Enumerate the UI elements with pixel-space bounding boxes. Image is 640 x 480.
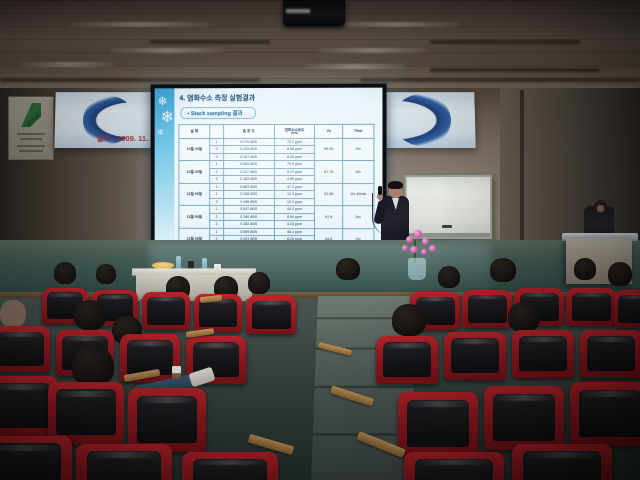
slide-side-decor: ❄ ❄ ❄ <box>155 88 175 241</box>
cell-concentration: 47.3 ppm <box>274 183 315 191</box>
col-concentration: 염화수소농도 (PPM) <box>274 124 315 138</box>
auditorium-seat[interactable] <box>182 452 278 480</box>
auditorium-seat[interactable] <box>0 326 50 372</box>
orchid-bloom <box>429 245 436 252</box>
cell-concentration: 10.2 ppm <box>274 198 315 206</box>
cell-concentration: 48.1 ppm <box>274 228 315 236</box>
auditorium-seat[interactable] <box>570 382 640 446</box>
auditorium-seat[interactable] <box>512 444 612 480</box>
slide-bullet-text: • Stack sampling 결과 <box>187 109 242 117</box>
cell-concentration: 8.28 ppm <box>274 153 315 161</box>
cell-concentration: 44.2 ppm <box>274 206 315 214</box>
audience-head <box>608 262 632 286</box>
cell-measurement-no: 2 <box>210 168 224 175</box>
orchid-bloom <box>422 238 429 245</box>
table-row: 10월 30일10.954 ABS70.9 ppm67.762hr <box>179 161 374 169</box>
col-no <box>210 125 224 139</box>
auditorium-seat[interactable] <box>0 436 72 480</box>
cell-measurement-no: 2 <box>210 191 224 198</box>
ceiling-seam <box>430 68 600 72</box>
cell-absorbance: 0.547 ABS <box>223 206 274 214</box>
auditorium-photo: 대구대 발표회 대구 발표회 대구대학교 환경공학과 일시 : 2009. 11… <box>0 0 640 480</box>
auditorium-seat[interactable] <box>444 332 506 380</box>
cell-absorbance: 0.183 ABS <box>223 176 274 184</box>
audience-head <box>72 346 114 386</box>
auditorium-seat[interactable] <box>404 452 504 480</box>
cell-vs: 53.98 <box>315 183 342 206</box>
ceiling-seam <box>360 78 640 82</box>
auditorium-seat[interactable] <box>398 392 478 456</box>
podium-person-face <box>597 205 604 212</box>
presentation-slide: ❄ ❄ ❄ 4. 염화수소 측정 실험결과 • Stack sampling 결… <box>155 88 383 243</box>
auditorium-seat[interactable] <box>614 290 640 328</box>
cell-concentration: 10.3 ppm <box>274 191 315 199</box>
auditorium-seat[interactable] <box>246 296 296 334</box>
cell-vs: 69.28 <box>315 138 342 161</box>
snowflake-icon: ❄ <box>157 128 164 137</box>
cell-concentration: 4.69 ppm <box>274 176 315 184</box>
orchid-bloom <box>414 230 422 238</box>
audience-head <box>96 264 116 284</box>
col-vs: Vs <box>315 124 342 138</box>
cell-measurement-no: 3 <box>210 198 224 205</box>
cell-measurement-no: 1 <box>210 161 224 168</box>
cell-measurement-no: 1 <box>210 139 224 146</box>
ceiling-light-fixture <box>70 22 210 27</box>
orchid-bloom <box>421 249 427 255</box>
audience-head <box>490 258 516 282</box>
audience-face <box>0 300 26 328</box>
auditorium-seat[interactable] <box>48 382 124 444</box>
ceiling-projector <box>283 0 345 26</box>
slide-bullet-box: • Stack sampling 결과 <box>180 107 256 119</box>
cell-absorbance: 0.198 ABS <box>223 191 274 199</box>
cell-absorbance: 0.186 ABS <box>223 213 274 221</box>
cell-date: 10월 30일 <box>179 161 210 183</box>
cell-vs: 67.6 <box>315 206 342 229</box>
auditorium-seat[interactable] <box>484 386 564 450</box>
col-concentration-unit: (PPM) <box>275 132 315 135</box>
auditorium-seat[interactable] <box>376 336 438 384</box>
water-bottle <box>176 256 181 269</box>
cell-concentration: 8.98 ppm <box>274 146 315 154</box>
audience-head <box>392 304 426 336</box>
cell-time: 1hr 40min <box>342 183 373 206</box>
cell-measurement-no: 2 <box>210 213 224 220</box>
ceiling <box>0 0 640 92</box>
audience-head <box>54 262 76 284</box>
cell-absorbance: 0.182 ABS <box>223 221 274 229</box>
col-date: 날 짜 <box>179 125 210 139</box>
orchid-bloom <box>410 246 418 253</box>
table-row: 11월 06일10.863 ABS47.3 ppm53.981hr 40min <box>179 183 374 191</box>
snowflake-icon: ❄ <box>161 110 174 126</box>
cell-absorbance: 0.863 ABS <box>223 183 274 191</box>
snowflake-icon: ❄ <box>158 95 168 107</box>
auditorium-seat[interactable] <box>512 330 574 378</box>
slide-title: 4. 염화수소 측정 실험결과 <box>179 93 255 103</box>
ceiling-light-fixture <box>20 62 115 67</box>
audience-head <box>574 258 596 280</box>
coffee-cup <box>172 366 181 379</box>
cell-date: 11월 06일 <box>179 183 210 205</box>
audience-head <box>336 258 360 280</box>
audience-head <box>248 272 270 294</box>
wall-poster <box>8 96 54 160</box>
table-header-row: 날 짜 흡 광 도 염화수소농도 (PPM) Vs Time <box>179 124 374 138</box>
cell-absorbance: 0.954 ABS <box>223 161 274 168</box>
microphone-icon <box>378 186 382 195</box>
whiteboard-marker <box>442 225 452 228</box>
projection-screen: ❄ ❄ ❄ 4. 염화수소 측정 실험결과 • Stack sampling 결… <box>151 84 387 249</box>
ceiling-seam <box>150 40 270 44</box>
cell-concentration: 73.2 ppm <box>274 138 315 146</box>
cell-time: 2hr <box>342 206 373 229</box>
auditorium-seat[interactable] <box>128 388 206 452</box>
cell-measurement-no: 2 <box>210 146 224 153</box>
ceiling-seam <box>0 78 260 82</box>
table-row: 10월 29일10.276 ABS73.2 ppm69.282hr <box>179 138 374 146</box>
ceiling-light-fixture <box>305 64 405 69</box>
cell-measurement-no: 3 <box>210 153 224 160</box>
auditorium-seat[interactable] <box>76 444 172 480</box>
auditorium-seat[interactable] <box>580 330 640 378</box>
table-body: 10월 29일10.276 ABS73.2 ppm69.282hr20.135 … <box>179 138 374 242</box>
cell-measurement-no: 3 <box>210 176 224 183</box>
cell-measurement-no: 1 <box>210 183 224 190</box>
cell-absorbance: 0.276 ABS <box>223 138 274 146</box>
cell-absorbance: 0.135 ABS <box>223 146 274 154</box>
col-time: Time <box>342 124 373 138</box>
audience-head <box>74 300 106 330</box>
table-head: 날 짜 흡 광 도 염화수소농도 (PPM) Vs Time <box>179 124 374 138</box>
cell-absorbance: 0.196 ABS <box>223 198 274 206</box>
col-absorbance: 흡 광 도 <box>223 124 274 138</box>
cell-absorbance: 0.117 ABS <box>223 168 274 175</box>
auditorium-seat[interactable] <box>142 292 190 330</box>
audience-head <box>508 302 540 332</box>
cell-date: 10월 29일 <box>179 139 210 161</box>
door-frame <box>520 90 524 240</box>
cell-concentration: 9.17 ppm <box>274 168 315 176</box>
cell-time: 2hr <box>342 138 373 161</box>
ceiling-light-fixture <box>110 48 225 53</box>
cell-vs: 67.76 <box>315 161 342 184</box>
orchid-bloom <box>402 245 408 251</box>
cell-measurement-no: 1 <box>210 228 224 236</box>
auditorium-seat[interactable] <box>566 288 616 326</box>
slide-data-table: 날 짜 흡 광 도 염화수소농도 (PPM) Vs Time 10월 29일10… <box>178 124 374 243</box>
ceiling-seam <box>430 40 580 44</box>
cell-concentration: 70.9 ppm <box>274 161 315 168</box>
flower-vase <box>408 258 426 280</box>
ceiling-light-fixture <box>330 22 460 27</box>
cell-time: 2hr <box>342 161 373 184</box>
cell-absorbance: 0.167 ABS <box>223 153 274 160</box>
presenter-hair <box>388 181 403 189</box>
ceiling-light-fixture <box>318 48 428 53</box>
audience-head <box>438 266 460 288</box>
poster-logo-icon <box>21 103 41 127</box>
auditorium-seat[interactable] <box>462 290 512 328</box>
cell-concentration: 8.90 ppm <box>274 213 315 221</box>
cell-absorbance: 0.589 ABS <box>223 228 274 236</box>
cell-measurement-no: 3 <box>210 221 224 229</box>
orchid-bloom <box>406 236 413 243</box>
cell-measurement-no: 1 <box>210 206 224 213</box>
cell-date: 11월 06일 <box>179 206 210 228</box>
cell-concentration: 4.33 ppm <box>274 221 315 229</box>
